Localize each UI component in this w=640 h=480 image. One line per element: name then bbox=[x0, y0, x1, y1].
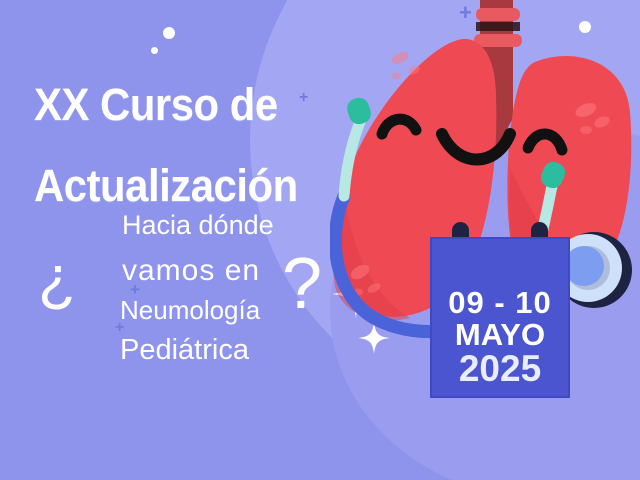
headline-line-2: Actualización bbox=[34, 163, 341, 208]
calendar-month: MAYO bbox=[430, 319, 570, 351]
poster-canvas: + + + + bbox=[0, 0, 640, 480]
decor-dot bbox=[163, 27, 175, 39]
subheadline-line-3: Neumología bbox=[120, 295, 260, 326]
headline-line-1: XX Curso de bbox=[34, 82, 341, 127]
calendar-year: 2025 bbox=[430, 350, 570, 388]
calendar-date-text: 09 - 10 MAYO 2025 bbox=[430, 287, 570, 388]
calendar-days: 09 - 10 bbox=[430, 287, 570, 319]
question-mark-close: ? bbox=[282, 248, 322, 320]
subheadline-line-2: vamos en bbox=[122, 254, 260, 288]
subheadline: ¿ Hacia dónde vamos en Neumología Pediát… bbox=[30, 210, 360, 390]
decor-dot bbox=[151, 47, 158, 54]
headline: XX Curso de Actualización bbox=[34, 82, 364, 208]
question-mark-open: ¿ bbox=[38, 248, 76, 310]
subheadline-line-4: Pediátrica bbox=[120, 334, 249, 367]
subheadline-line-1: Hacia dónde bbox=[122, 210, 274, 241]
calendar-card: 09 - 10 MAYO 2025 bbox=[430, 237, 570, 398]
